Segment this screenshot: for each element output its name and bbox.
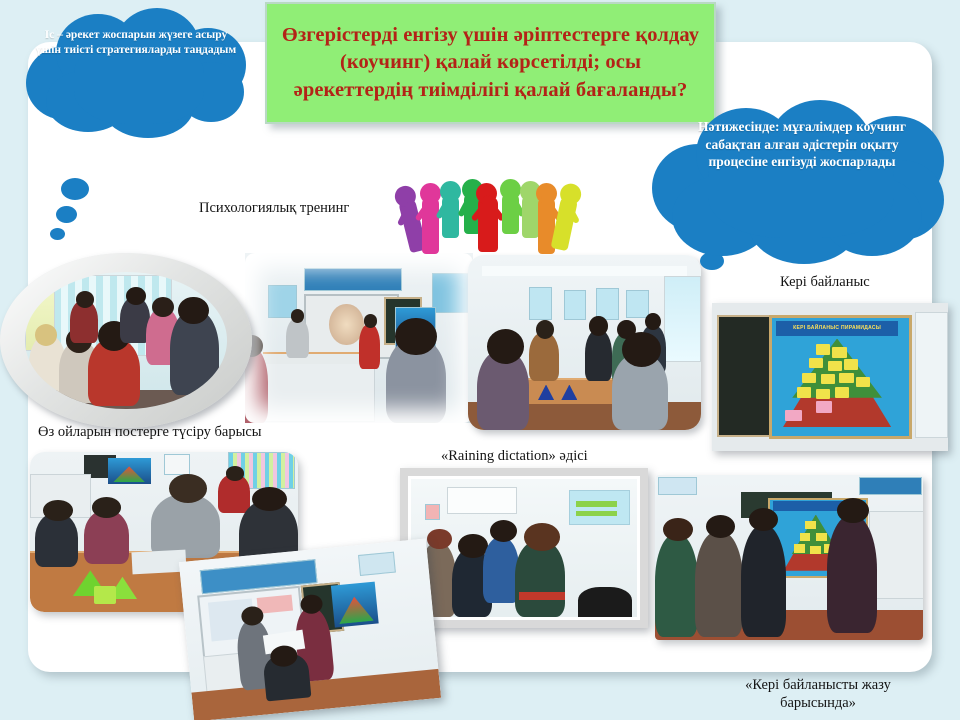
slide-canvas: КЕРІ БАЙЛАНЫС ПИРАМИДАСЫ xyxy=(0,0,960,720)
photo-scene xyxy=(245,253,473,423)
poster-presentation-photo xyxy=(179,538,441,720)
caption-poster: Өз ойларын постерге түсіру барысы xyxy=(38,424,262,441)
photo-inner-frame xyxy=(408,476,640,620)
cloud-callout-left: Іс – әрекет жоспарын жүзеге асыру үшін т… xyxy=(18,8,254,143)
photo-scene xyxy=(468,255,701,430)
page-title: Өзгерістерді енгізу үшін әріптестерге қо… xyxy=(267,22,714,103)
raining-dictation-photo xyxy=(400,468,648,628)
photo-scene xyxy=(411,479,637,617)
people-circle-clipart xyxy=(392,136,588,254)
photo-scene xyxy=(655,475,923,640)
photo-scene: КЕРІ БАЙЛАНЫС ПИРАМИДАСЫ xyxy=(712,303,948,451)
cloud-callout-right: Нәтижесінде: мұғалімдер коучинг сабақтан… xyxy=(652,100,952,265)
feedback-pyramid-slide-photo: КЕРІ БАЙЛАНЫС ПИРАМИДАСЫ xyxy=(712,303,948,451)
pyramid-heading: КЕРІ БАЙЛАНЫС ПИРАМИДАСЫ xyxy=(776,321,899,336)
classroom-presentation-photo xyxy=(245,253,473,423)
feedback-pyramid-activity-photo xyxy=(655,475,923,640)
cloud-left-text: Іс – әрекет жоспарын жүзеге асыру үшін т… xyxy=(32,28,240,58)
oval-photo-inner xyxy=(25,272,227,409)
photo-scene xyxy=(25,272,227,409)
caption-feedback-writing: «Кері байланысты жазу барысында» xyxy=(718,676,918,712)
caption-raining-dictation: «Raining dictation» әдісі xyxy=(441,448,588,465)
cloud-right-text: Нәтижесінде: мұғалімдер коучинг сабақтан… xyxy=(674,118,930,171)
title-box: Өзгерістерді енгізу үшін әріптестерге қо… xyxy=(265,2,716,124)
cloud-left-tail-small xyxy=(50,228,65,240)
psychological-training-circle-photo xyxy=(0,253,252,428)
cloud-left-tail-large xyxy=(61,178,89,200)
photo-scene xyxy=(179,538,441,720)
cloud-left-tail-medium xyxy=(56,206,77,223)
caption-feedback: Кері байланыс xyxy=(780,274,870,291)
caption-psychological-training: Психологиялық тренинг xyxy=(199,200,349,217)
workshop-activity-photo xyxy=(468,255,701,430)
